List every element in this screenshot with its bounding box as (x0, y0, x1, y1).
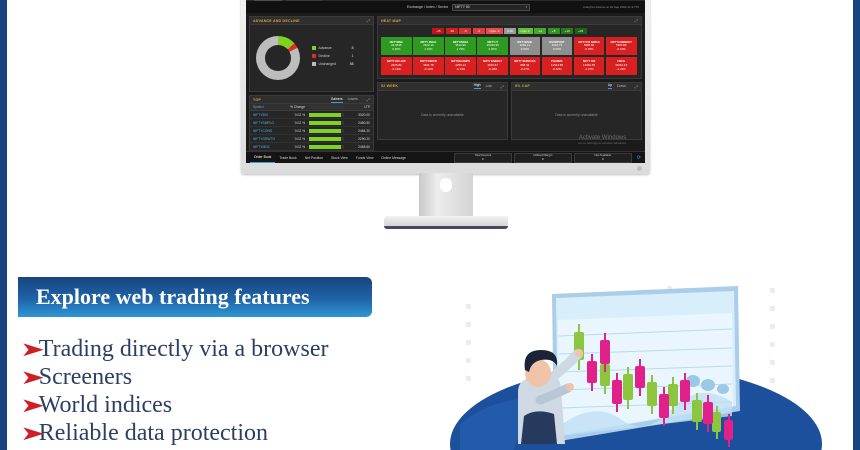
top-panel-header: TOP Gainers Losers ⤢ (250, 96, 373, 104)
trader-candlestick-chart-illustration (440, 276, 860, 450)
tab-preference[interactable]: Preference (286, 0, 322, 1)
heat-map-cell[interactable]: NIFTY SERVICES 888.42 -0.27% (510, 57, 541, 75)
week52-empty-message: Data is currently unavailable (378, 91, 507, 139)
bullet-label: Screeners (39, 364, 132, 391)
footer-link-trade-book[interactable]: Trade Book (275, 152, 300, 163)
tab-losers[interactable]: Losers (348, 97, 358, 102)
column-ltp: LTP (348, 105, 370, 109)
footer-link-order-book[interactable]: Order Book (250, 152, 275, 163)
metric-value: 0 (602, 158, 604, 161)
monitor-power-led-icon (637, 166, 642, 171)
page-title: Explore web trading features (36, 284, 310, 310)
bullet-label: Trading directly via a browser (39, 336, 329, 363)
cell-change: 0.02 % (287, 137, 305, 141)
expand-icon[interactable]: ⤢ (501, 84, 504, 89)
cell-symbol: NIFTYGRWTH (253, 137, 287, 141)
metric-value: 0 (542, 158, 544, 161)
list-item: ➤ Screeners (20, 364, 450, 391)
arrow-bullet-icon: ➤ (20, 396, 45, 416)
watermark-subtitle: Go to Settings to activate Windows. (578, 141, 627, 145)
list-item: ➤ World indices (20, 392, 450, 419)
heat-map-cell[interactable]: NIFTYINFRA 3612.90 1.73% (445, 37, 476, 55)
cell-change: -0.13% (392, 68, 401, 72)
cap5-title: 5% CAP (515, 84, 530, 88)
heat-map-grid: NIFTYMNC 22.0435 0.49% NIFTY FMCG 2222.1… (378, 37, 641, 78)
heat-map-cell[interactable]: NIFTY IT 26430.90 0.20% (477, 37, 508, 55)
legend-chip: -5 (459, 28, 471, 34)
cap5-header: 5% CAP Up Down ⤢ (512, 83, 641, 91)
week52-panel: 52 WEEK High Low ⤢ Data is currently una… (377, 82, 508, 140)
top-panel-title: TOP (253, 98, 261, 102)
legend-label: Unchanged (319, 62, 341, 66)
cell-change: -0.27% (520, 68, 529, 72)
feature-bullet-list: ➤ Trading directly via a browser ➤ Scree… (20, 336, 450, 448)
legend-chip: 0.00 (504, 28, 516, 34)
footer-metrics: Total Deposit 0 Utilised Margin 0 Net Av… (454, 153, 641, 163)
top-table-header: Symbol % Change LTP (250, 104, 373, 111)
top-panel-tabs: Gainers Losers ⤢ (331, 97, 370, 103)
arrow-bullet-icon: ➤ (20, 340, 45, 360)
cell-change: 0.00% (521, 48, 529, 52)
cell-change-bar (309, 121, 344, 125)
heat-map-cell[interactable]: NIFTYBANK 2292.11 0.00% (510, 37, 541, 55)
monitor-stand-base-lip (384, 226, 508, 229)
legend-chip: +10 (561, 28, 573, 34)
advance-decline-body: Advance 8 Decline 1 (250, 25, 373, 91)
tab-up[interactable]: Up (608, 83, 612, 89)
cell-change: 0.02 % (287, 129, 305, 133)
expand-icon[interactable]: ⤢ (635, 18, 638, 23)
cap5-panel: 5% CAP Up Down ⤢ Data is currently unava… (511, 82, 642, 140)
cell-change: 1.34% (424, 48, 432, 52)
monitor-bezel: Equity Preference Exchange / Index / Sec… (241, 0, 650, 174)
cell-change: -0.10% (617, 48, 626, 52)
table-row[interactable]: NIFTYCONS 0.02 % 2484.20 (250, 127, 373, 135)
tab-equity[interactable]: Equity (254, 0, 282, 1)
heat-map-cell[interactable]: NIFTY ENERGY 2616.67 -0.19% (477, 57, 508, 75)
cell-change: 0.02 % (287, 121, 305, 125)
heat-map-cell[interactable]: NIFTY FMCG 2222.10 1.34% (413, 37, 444, 55)
legend-chip: +5 (548, 28, 560, 34)
cell-symbol: NIFTYMNC (253, 145, 287, 149)
column-bar-spacer (309, 105, 344, 109)
legend-chip: +15 (575, 28, 587, 34)
cell-change: -0.14% (456, 68, 465, 72)
heat-map-header: HEAT MAP ⤢ (378, 17, 641, 25)
heat-map-cell[interactable]: NIFTY 500 13361.55 -1.07% (574, 57, 605, 75)
cell-ltp: 2484.20 (348, 129, 370, 133)
cell-change: -0.52% (552, 68, 561, 72)
cell-change: 0.49% (392, 48, 400, 52)
heat-map-cell[interactable]: NIFTY100 LOW 2225.84 -0.13% (381, 57, 412, 75)
legend-item-decline: Decline 1 (312, 54, 354, 58)
cell-change: 0.02 % (287, 113, 305, 117)
heat-map-panel: HEAT MAP ⤢ -15 -10 -5 -2 Upto -2 0.00 Up… (377, 16, 642, 79)
heat-map-title: HEAT MAP (381, 19, 401, 23)
legend-value: 1 (341, 54, 354, 58)
footer-link-stock-view[interactable]: Stock View (327, 152, 352, 163)
table-row[interactable]: NIFTYMNC 0.02 % 2465.60 (250, 143, 373, 151)
legend-label: Decline (319, 54, 341, 58)
metric-utilised-margin: Utilised Margin 0 (514, 153, 572, 163)
heat-map-cell[interactable]: NIFTY100 SMPLE 5080.90 -0.05% (574, 37, 605, 55)
advance-swatch-icon (312, 46, 316, 50)
heat-map-cell[interactable]: NIFTYMNC 22.0435 0.49% (381, 37, 412, 55)
chevron-down-icon: ▾ (526, 5, 528, 9)
week52-tabs: High Low ⤢ (474, 83, 504, 89)
advance-decline-panel: ADVANCE AND DECLINE ⤢ Advance 8 (249, 16, 374, 92)
cell-change-bar (309, 129, 344, 133)
bullet-label: Reliable data protection (39, 420, 268, 447)
cell-change: -0.19% (488, 68, 497, 72)
refresh-icon[interactable]: ⟳ (637, 155, 641, 161)
legend-chip: +2 (534, 28, 546, 34)
cell-change-bar (309, 113, 344, 117)
heat-map-cell[interactable]: NIFTYCOMMODT 5480.99 -0.10% (606, 37, 637, 55)
legend-item-advance: Advance 8 (312, 46, 354, 50)
tab-high[interactable]: High (474, 83, 481, 89)
cell-ltp: 2465.60 (348, 145, 370, 149)
left-border-stripe (0, 0, 7, 450)
heat-map-cell[interactable]: FMCG 44061.15 -1.23% (606, 57, 637, 75)
list-item: ➤ Reliable data protection (20, 420, 450, 447)
expand-icon[interactable]: ⤢ (367, 18, 370, 23)
tab-gainers[interactable]: Gainers (331, 97, 343, 103)
cell-change-bar (309, 145, 344, 149)
tab-low[interactable]: Low (486, 84, 492, 89)
week52-title: 52 WEEK (381, 84, 398, 88)
cell-symbol: NIFTYCONS (253, 129, 287, 133)
legend-chip: -15 (432, 28, 444, 34)
cap5-empty-message: Data is currently unavailable (512, 91, 641, 139)
footer-link-online-message[interactable]: Online Message (377, 152, 410, 163)
legend-chip: -10 (446, 28, 458, 34)
app-footer-bar: Order Book Trade Book Net Position Stock… (246, 151, 645, 163)
list-item: ➤ Trading directly via a browser (20, 336, 450, 363)
cell-change: -0.05% (584, 48, 593, 52)
legend-chip: -2 (473, 28, 485, 34)
metric-value: 0 (482, 158, 484, 161)
column-change: % Change (287, 105, 305, 109)
tab-down[interactable]: Down (617, 84, 626, 89)
exchange-index-sector-select[interactable]: NIFTY 50 ▾ (452, 4, 530, 11)
legend-value: 8 (341, 46, 354, 50)
lower-panels: 52 WEEK High Low ⤢ Data is currently una… (377, 82, 642, 143)
bullet-label: World indices (39, 392, 172, 419)
trading-app-screen: Equity Preference Exchange / Index / Sec… (246, 0, 645, 163)
week52-header: 52 WEEK High Low ⤢ (378, 83, 507, 91)
arrow-bullet-icon: ➤ (20, 424, 45, 444)
desktop-monitor: Equity Preference Exchange / Index / Sec… (241, 0, 650, 184)
dashboard-left-column: ADVANCE AND DECLINE ⤢ Advance 8 (249, 16, 374, 155)
footer-link-funds-view[interactable]: Funds View (352, 152, 378, 163)
page-root: Equity Preference Exchange / Index / Sec… (0, 0, 860, 450)
cell-change: 0.02 % (287, 145, 305, 149)
footer-link-net-position[interactable]: Net Position (301, 152, 327, 163)
cell-symbol: NIFTY500 (253, 113, 287, 117)
table-row[interactable]: NIFTYGRWTH 0.02 % 2290.20 (250, 135, 373, 143)
exchange-selector-label: Exchange / Index / Sector (407, 5, 448, 9)
decline-swatch-icon (312, 54, 316, 58)
expand-icon[interactable]: ⤢ (367, 97, 370, 102)
cell-change: -1.23% (617, 68, 626, 72)
person-trousers (521, 411, 557, 444)
heat-map-cell[interactable]: NIFTSECAMPS 2250.13 -0.14% (445, 57, 476, 75)
arrow-bullet-icon: ➤ (20, 368, 45, 388)
cell-change-bar (309, 137, 344, 141)
cell-symbol: NIFTYSMPLG (253, 121, 287, 125)
cell-ltp: 2290.20 (348, 137, 370, 141)
cap5-tabs: Up Down ⤢ (608, 83, 638, 89)
advance-decline-header: ADVANCE AND DECLINE ⤢ (250, 17, 373, 25)
cell-change: 0.20% (489, 48, 497, 52)
app-filter-bar: Exchange / Index / Sector NIFTY 50 ▾ Ana… (246, 1, 645, 13)
table-row[interactable]: NIFTY500 0.02 % 3320.00 (250, 111, 373, 119)
promo-heading-banner: Explore web trading features (18, 277, 372, 317)
cell-ltp: 3320.00 (348, 113, 370, 117)
legend-label: Advance (319, 46, 341, 50)
heat-map-legend: -15 -10 -5 -2 Upto -2 0.00 Upto 2 +2 +5 … (378, 25, 641, 37)
top-table-body: NIFTY500 0.02 % 3320.00 NIFTYSMPLG 0.02 … (250, 111, 373, 151)
cell-change: -1.07% (584, 68, 593, 72)
heat-map-cell[interactable]: DIVOPPORT 1522.73 0.00% (542, 37, 573, 55)
exchange-selector-value: NIFTY 50 (455, 5, 469, 9)
trader-illustration (440, 276, 860, 450)
person-hand (575, 349, 583, 357)
metric-net-available: Net Available 0 (574, 153, 632, 163)
person-hand (566, 383, 574, 391)
windows-activation-watermark: Activate Windows Go to Settings to activ… (578, 135, 627, 145)
unchanged-swatch-icon (312, 62, 316, 66)
metric-total-deposit: Total Deposit 0 (454, 153, 512, 163)
cell-change: -0.14% (424, 68, 433, 72)
top-gainers-panel: TOP Gainers Losers ⤢ Symbol % Change (249, 95, 374, 152)
table-row[interactable]: NIFTYSMPLG 0.02 % 2460.50 (250, 119, 373, 127)
heat-map-cell[interactable]: NIFTYGSRVN 3461.78 -0.14% (413, 57, 444, 75)
analytics-timestamp: Analytics data as at 29 Sep 2022 11:37:5… (583, 5, 639, 9)
column-symbol: Symbol (253, 105, 287, 109)
legend-chip: Upto -2 (486, 28, 502, 34)
heat-map-cell[interactable]: PHARMA 12544.58 -0.52% (542, 57, 573, 75)
cell-change: 1.73% (456, 48, 464, 52)
cell-change: 0.00% (553, 48, 561, 52)
legend-item-unchanged: Unchanged 58 (312, 62, 354, 66)
advance-decline-donut-chart (256, 36, 300, 80)
monitor-stand-cable-hole (440, 178, 452, 192)
expand-icon[interactable]: ⤢ (635, 84, 638, 89)
chart-screen (552, 286, 740, 447)
legend-chip: Upto 2 (518, 28, 533, 34)
advance-decline-title: ADVANCE AND DECLINE (253, 19, 300, 23)
legend-value: 58 (341, 62, 354, 66)
cell-ltp: 2460.50 (348, 121, 370, 125)
advance-decline-legend: Advance 8 Decline 1 (312, 46, 354, 70)
